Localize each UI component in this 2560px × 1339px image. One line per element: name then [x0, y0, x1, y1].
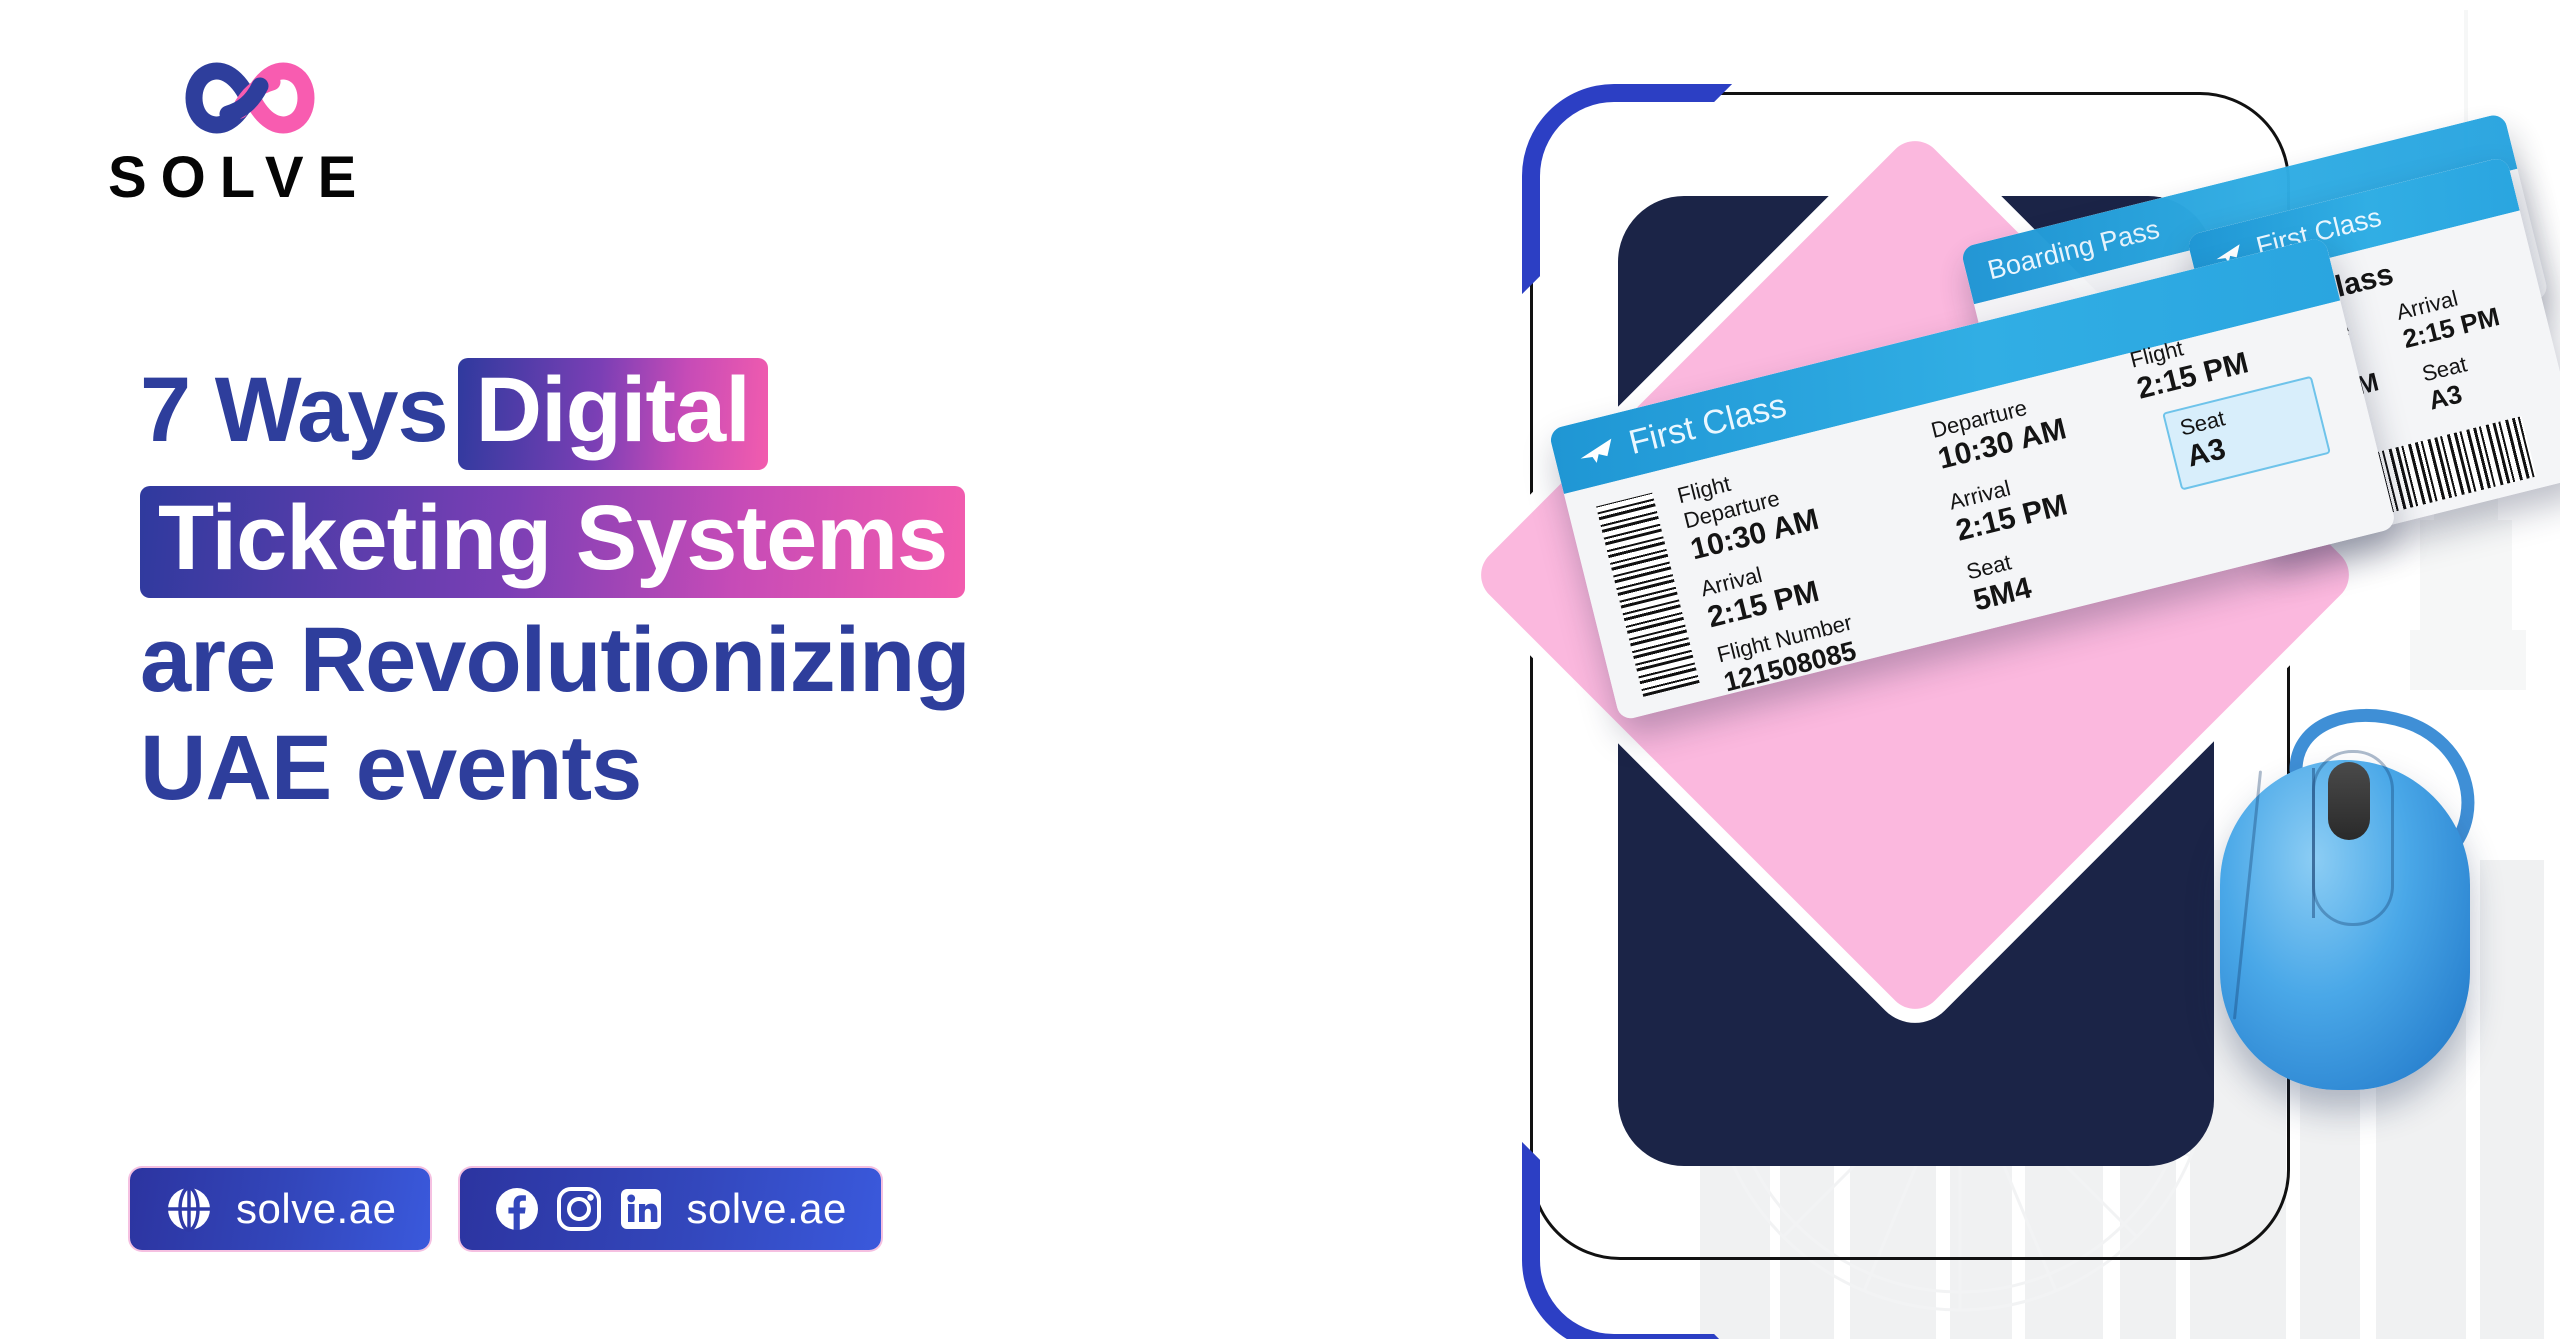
linkedin-icon[interactable] [618, 1186, 664, 1232]
headline-line-1: 7 WaysDigital [140, 358, 1400, 470]
headline: 7 WaysDigital Ticketing Systems are Revo… [140, 358, 1400, 830]
headline-plain-text: 7 Ways [140, 359, 448, 461]
website-button[interactable]: solve.ae [130, 1168, 430, 1250]
infinity-loop-icon [180, 52, 320, 144]
brand-logo[interactable]: SOLVE [108, 52, 408, 222]
content-column: SOLVE 7 WaysDigital Ticketing Systems ar… [0, 0, 1480, 1339]
headline-line-2: Ticketing Systems [140, 486, 1400, 598]
headline-line-3-text: are Revolutionizing [140, 609, 970, 711]
ticket-front-seat: Seat 5M4 [1964, 547, 2035, 618]
mouse-button-split [2312, 768, 2315, 918]
banner-canvas: SOLVE 7 WaysDigital Ticketing Systems ar… [0, 0, 2560, 1339]
social-button[interactable]: solve.ae [460, 1168, 880, 1250]
headline-highlight-ticketing-systems: Ticketing Systems [140, 486, 965, 598]
website-button-label: solve.ae [236, 1185, 396, 1233]
headline-highlight-digital: Digital [458, 358, 768, 470]
ticket-front-arrival-2: Arrival 2:15 PM [1947, 464, 2071, 548]
headline-line-4-text: UAE events [140, 717, 641, 819]
facebook-icon[interactable] [494, 1186, 540, 1232]
headline-line-4: UAE events [140, 722, 1400, 814]
ticket-stub-seat: Seat A3 [2420, 352, 2477, 415]
globe-icon [164, 1184, 214, 1234]
computer-mouse [2200, 700, 2490, 1090]
instagram-icon[interactable] [556, 1186, 602, 1232]
ticket-front: First Class Flight Departure 10:30 AM Ar… [1548, 236, 2397, 721]
headline-line-3: are Revolutionizing [140, 614, 1400, 706]
artwork: Boarding Pass Departure First Class [1400, 0, 2560, 1339]
ticket-stub-arrival: Arrival 2:15 PM [2394, 278, 2502, 354]
social-icon-row [494, 1186, 664, 1232]
cta-row: solve.ae [130, 1168, 881, 1250]
ticket-front-departure-2: Departure 10:30 AM [1929, 388, 2070, 476]
mouse-scroll-wheel [2328, 762, 2370, 840]
social-button-label: solve.ae [686, 1185, 846, 1233]
brand-wordmark: SOLVE [108, 148, 408, 208]
airplane-icon [1572, 428, 1620, 476]
ticket-stack: Boarding Pass Departure First Class [1400, 0, 2560, 1339]
